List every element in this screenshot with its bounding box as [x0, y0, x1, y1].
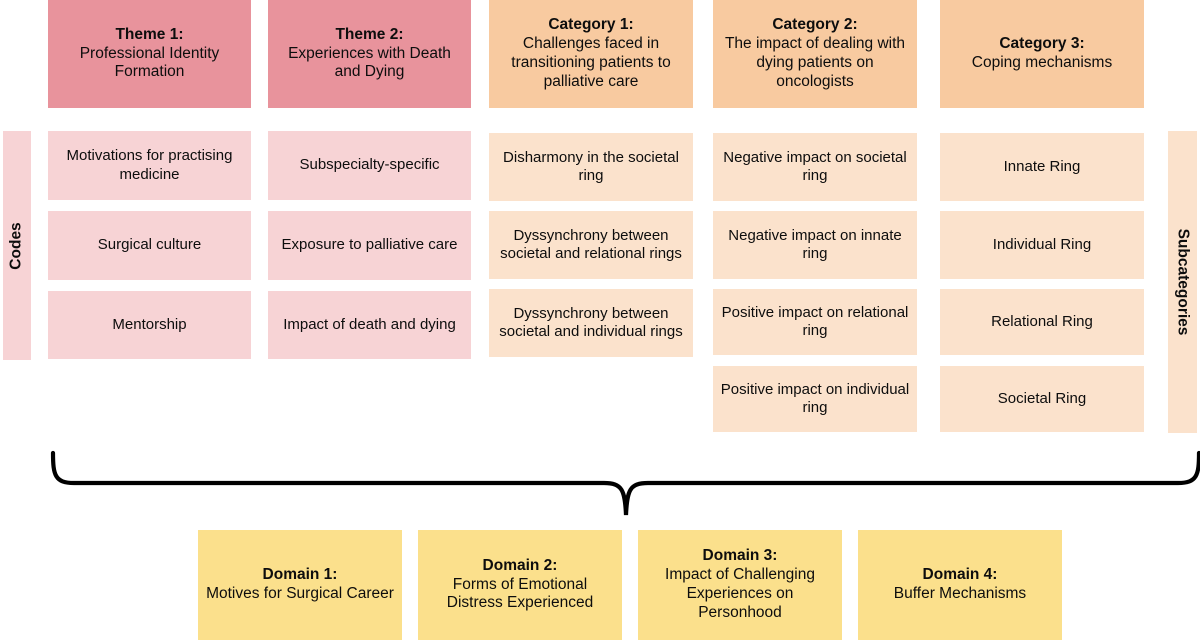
theme-header-1-title: Theme 1: [115, 26, 183, 45]
code-cell-label: Surgical culture [98, 236, 201, 254]
theme-header-2: Theme 2: Experiences with Death and Dyin… [268, 0, 471, 108]
theme-header-2-subtitle: Experiences with Death and Dying [274, 45, 465, 83]
code-cell: Mentorship [48, 291, 251, 359]
subcategory-cell-label: Negative impact on innate ring [719, 227, 911, 264]
subcategory-cell: Dyssynchrony between societal and relati… [489, 211, 693, 279]
code-cell-label: Subspecialty-specific [299, 156, 439, 174]
category-header-3: Category 3: Coping mechanisms [940, 0, 1144, 108]
domain-box-4-subtitle: Buffer Mechanisms [894, 585, 1026, 604]
rail-label-codes-text: Codes [8, 222, 26, 269]
subcategory-cell: Relational Ring [940, 289, 1144, 355]
subcategory-cell-label: Relational Ring [991, 313, 1093, 331]
subcategory-cell-label: Dyssynchrony between societal and relati… [495, 227, 687, 264]
category-header-3-title: Category 3: [999, 35, 1084, 54]
subcategory-cell: Societal Ring [940, 366, 1144, 432]
category-header-2-title: Category 2: [772, 16, 857, 35]
subcategory-cell-label: Dyssynchrony between societal and indivi… [495, 305, 687, 342]
theme-header-1: Theme 1: Professional Identity Formation [48, 0, 251, 108]
code-cell-label: Exposure to palliative care [282, 236, 458, 254]
category-header-3-subtitle: Coping mechanisms [972, 54, 1112, 73]
domain-box-2-title: Domain 2: [483, 557, 558, 576]
category-header-2-subtitle: The impact of dealing with dying patient… [719, 35, 911, 92]
subcategory-cell: Negative impact on innate ring [713, 211, 917, 279]
code-cell: Subspecialty-specific [268, 131, 471, 200]
code-cell-label: Mentorship [112, 316, 186, 334]
subcategory-cell: Innate Ring [940, 133, 1144, 201]
code-cell: Motivations for practising medicine [48, 131, 251, 200]
subcategory-cell: Negative impact on societal ring [713, 133, 917, 201]
subcategory-cell-label: Societal Ring [998, 390, 1086, 408]
subcategory-cell: Dyssynchrony between societal and indivi… [489, 289, 693, 357]
domain-box-1-title: Domain 1: [263, 566, 338, 585]
domain-box-1: Domain 1: Motives for Surgical Career [198, 530, 402, 640]
domain-box-3: Domain 3: Impact of Challenging Experien… [638, 530, 842, 640]
subcategory-cell-label: Innate Ring [1004, 158, 1081, 176]
category-header-1-subtitle: Challenges faced in transitioning patien… [495, 35, 687, 92]
subcategory-cell: Positive impact on individual ring [713, 366, 917, 432]
category-header-1: Category 1: Challenges faced in transiti… [489, 0, 693, 108]
subcategory-cell-label: Individual Ring [993, 236, 1091, 254]
domain-box-3-subtitle: Impact of Challenging Experiences on Per… [644, 566, 836, 623]
code-cell: Impact of death and dying [268, 291, 471, 359]
diagram-canvas: Theme 1: Professional Identity Formation… [0, 0, 1200, 640]
code-cell-label: Impact of death and dying [283, 316, 456, 334]
code-cell: Surgical culture [48, 211, 251, 280]
domain-box-3-title: Domain 3: [703, 547, 778, 566]
code-cell-label: Motivations for practising medicine [54, 147, 245, 184]
rail-label-subcategories: Subcategories [1168, 131, 1197, 433]
subcategory-cell-label: Disharmony in the societal ring [495, 149, 687, 186]
subcategory-cell: Positive impact on relational ring [713, 289, 917, 355]
domain-box-4-title: Domain 4: [923, 566, 998, 585]
rail-label-codes: Codes [3, 131, 31, 360]
rail-label-subcategories-text: Subcategories [1174, 229, 1192, 336]
code-cell: Exposure to palliative care [268, 211, 471, 280]
domain-box-4: Domain 4: Buffer Mechanisms [858, 530, 1062, 640]
subcategory-cell: Disharmony in the societal ring [489, 133, 693, 201]
domain-box-2-subtitle: Forms of Emotional Distress Experienced [424, 576, 616, 614]
category-header-2: Category 2: The impact of dealing with d… [713, 0, 917, 108]
subcategory-cell-label: Positive impact on relational ring [719, 304, 911, 341]
subcategory-cell-label: Negative impact on societal ring [719, 149, 911, 186]
theme-header-2-title: Theme 2: [335, 26, 403, 45]
subcategory-cell: Individual Ring [940, 211, 1144, 279]
subcategory-cell-label: Positive impact on individual ring [719, 381, 911, 418]
domain-box-2: Domain 2: Forms of Emotional Distress Ex… [418, 530, 622, 640]
domain-box-1-subtitle: Motives for Surgical Career [206, 585, 394, 604]
category-header-1-title: Category 1: [548, 16, 633, 35]
grouping-brace-icon [44, 445, 1200, 525]
theme-header-1-subtitle: Professional Identity Formation [54, 45, 245, 83]
